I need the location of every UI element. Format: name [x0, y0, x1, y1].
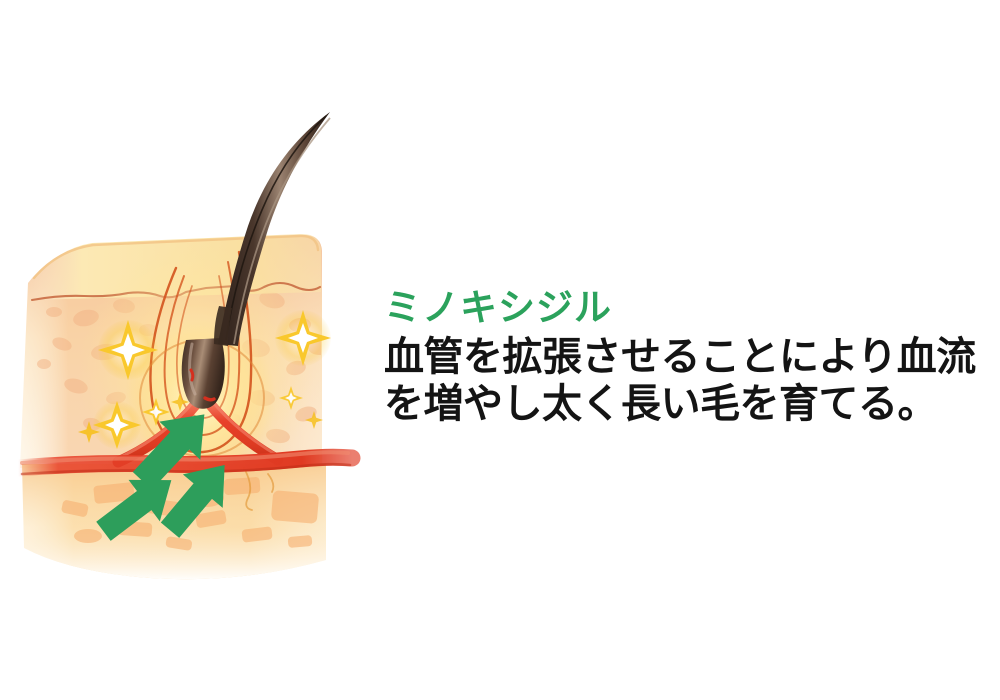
heading-minoxidil: ミノキシジル — [384, 288, 984, 328]
text-block: ミノキシジル 血管を拡張させることにより血流 を増やし太く長い毛を育てる。 — [384, 288, 984, 428]
page-root: ミノキシジル 血管を拡張させることにより血流 を増やし太く長い毛を育てる。 — [0, 0, 1000, 700]
hair-bulb — [182, 338, 225, 409]
sparkle-large-right — [275, 310, 331, 366]
body-line-1: 血管を拡張させることにより血流 — [384, 334, 984, 381]
skin-cross-section-illustration — [0, 0, 400, 700]
body-line-2: を増やし太く長い毛を育てる。 — [384, 381, 984, 428]
sparkle-medium-left — [93, 401, 141, 449]
skin-block — [18, 112, 352, 579]
sparkle-large-left — [98, 320, 158, 380]
